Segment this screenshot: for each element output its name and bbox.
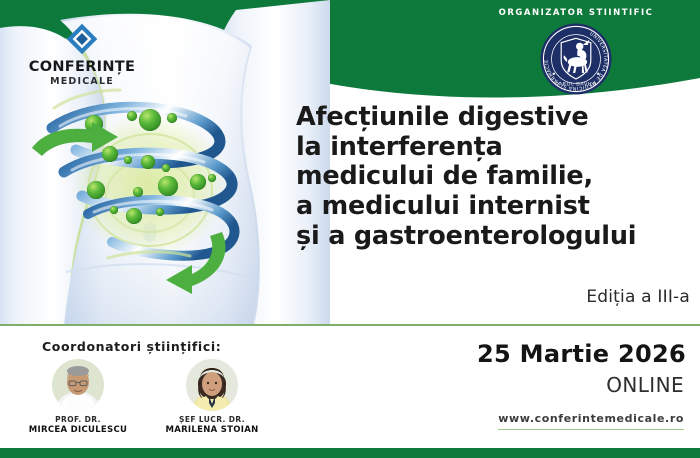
coordinator-rank: ȘEF LUCR. DR. [156,415,268,425]
logo-subtitle: MEDICALE [22,77,142,87]
footer-section: Coordonatori științifici: [0,326,700,448]
event-date: 25 Martie 2026 [477,340,686,368]
blue-diamond-icon [65,22,99,56]
coordinators-list: PROF. DR. MIRCEA DICULESCU [22,359,272,437]
event-mode: ONLINE [606,373,684,397]
title-line-3: medicului de familie, [296,162,692,192]
edition-label: Ediția a III-a [586,287,690,307]
coordinator-rank: PROF. DR. [22,415,134,425]
section-divider [0,324,700,326]
title-line-5: și a gastroenterologului [296,222,692,252]
university-seal-icon: UNIVERSITATEA DE MEDICINA SI FARMACIE CA… [539,22,613,96]
coordinators-heading: Coordonatori științifici: [42,339,221,354]
organizer-block: ORGANIZATOR STIINTIFIC UNIVERSITATEA DE … [466,8,686,96]
title-line-1: Afecțiunile digestive [296,103,692,133]
svg-text:CAROL DAVILA: CAROL DAVILA [555,82,597,88]
coordinator-item: ȘEF LUCR. DR. MARILENA STOIAN [156,359,268,437]
footer-green-bar [0,448,700,458]
logo-wordmark: CONFERINȚE [22,60,142,75]
conferinte-medicale-logo[interactable]: CONFERINȚE MEDICALE [22,22,142,86]
website-link[interactable]: www.conferintemedicale.ro [498,412,684,430]
coordinator-item: PROF. DR. MIRCEA DICULESCU [22,359,134,437]
coordinator-name: MIRCEA DICULESCU [22,425,134,436]
title-line-4: a medicului internist [296,192,692,222]
avatar [186,359,238,411]
conference-banner: CONFERINȚE MEDICALE ORGANIZATOR STIINTIF… [0,0,700,458]
avatar [52,359,104,411]
organizer-label: ORGANIZATOR STIINTIFIC [466,8,686,18]
coordinator-name: MARILENA STOIAN [156,425,268,436]
title-line-2: la interferența [296,133,692,163]
page-title: Afecțiunile digestive la interferența me… [296,103,692,252]
